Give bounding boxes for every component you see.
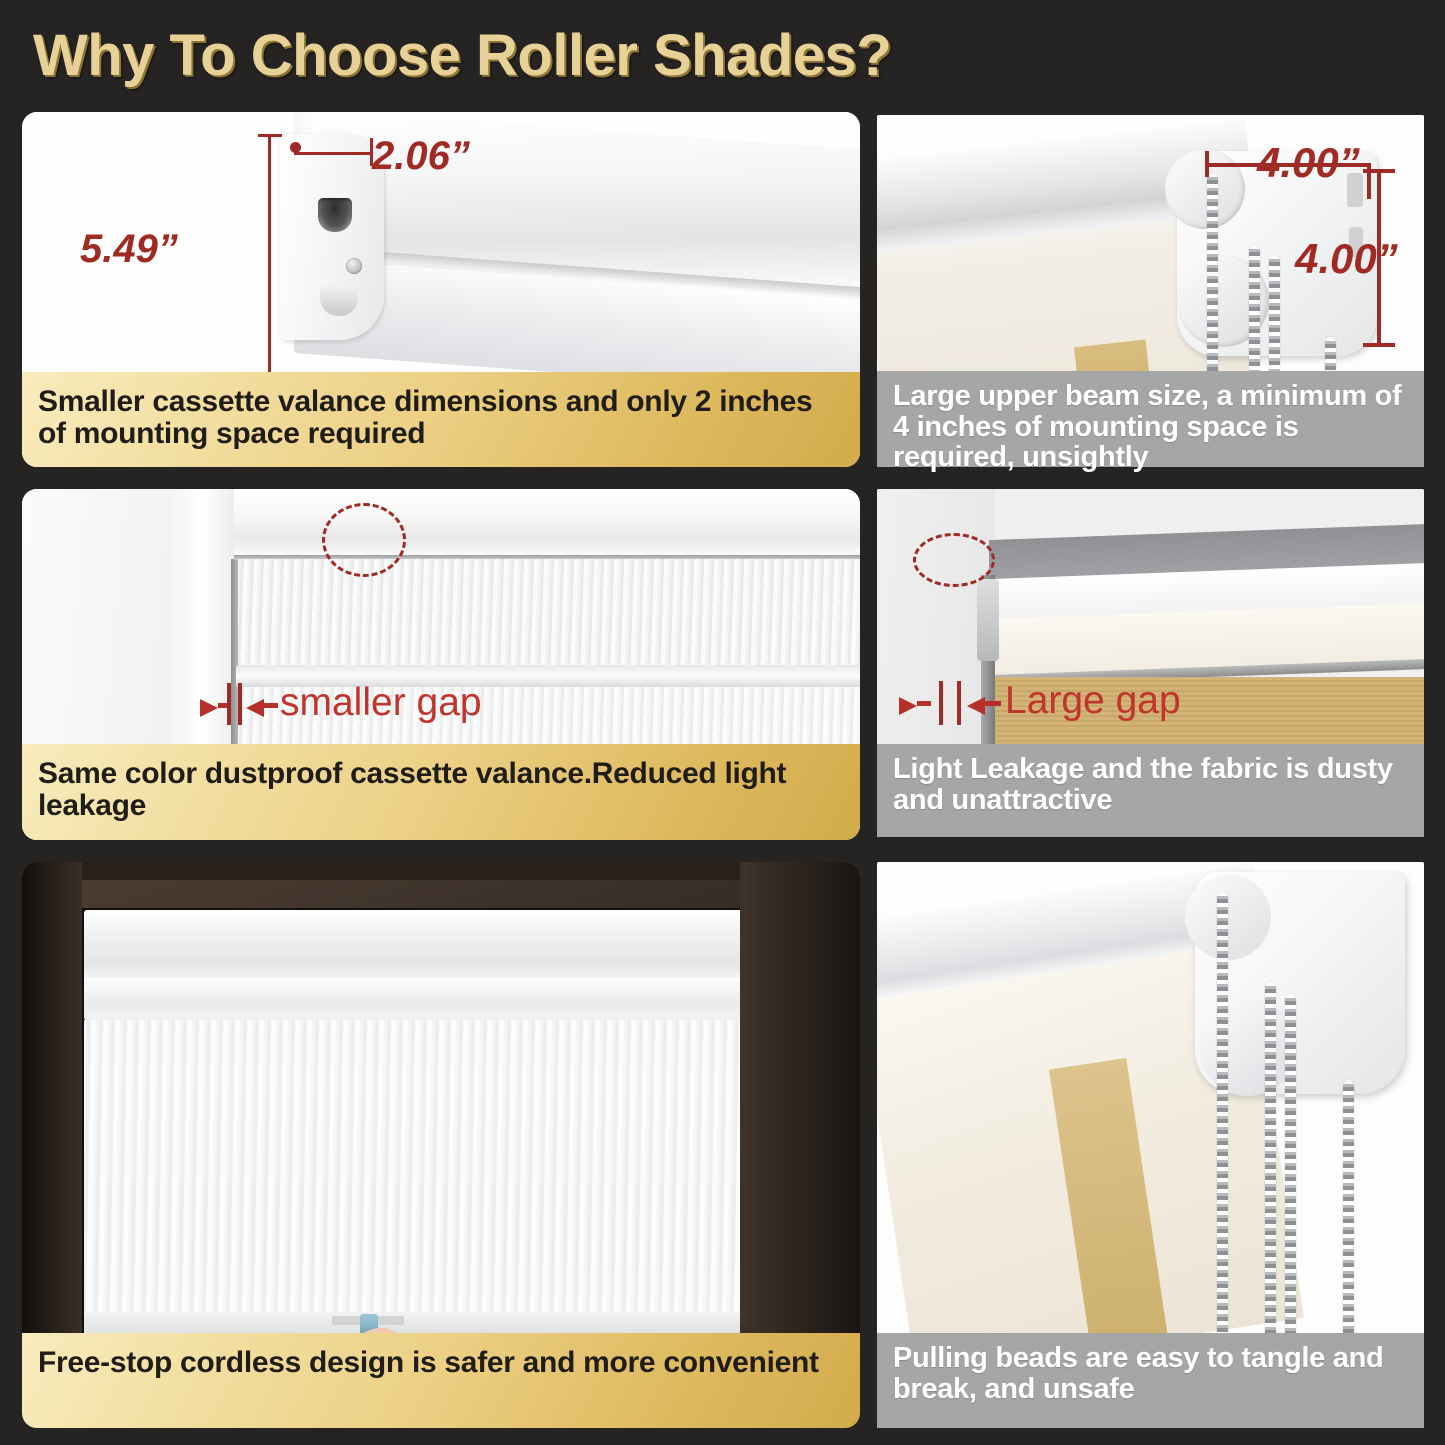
infographic-page: Why To Choose Roller Shades? 5.49” 2.06”… — [0, 0, 1445, 1445]
annotation-height-5-49: 5.49” — [80, 227, 178, 272]
caption-row3-left: Free-stop cordless design is safer and m… — [22, 1333, 860, 1428]
annotation-height-4-00: 4.00” — [1295, 235, 1398, 283]
annotation-smaller-gap: smaller gap — [280, 681, 482, 725]
valance-head-rail — [84, 910, 764, 982]
caption-row1-left: Smaller cassette valance dimensions and … — [22, 372, 860, 467]
page-title: Why To Choose Roller Shades? — [33, 20, 1033, 92]
annotation-width-4-00: 4.00” — [1257, 139, 1360, 187]
roller-shade-fabric — [84, 1020, 764, 1330]
bead-chain[interactable] — [1217, 892, 1228, 1382]
annotation-large-gap: Large gap — [1005, 679, 1181, 723]
bead-chain[interactable] — [1285, 994, 1296, 1382]
highlight-circle-icon — [322, 503, 406, 577]
annotation-width-2-06: 2.06” — [372, 134, 470, 179]
caption-row3-right: Pulling beads are easy to tangle and bre… — [877, 1333, 1424, 1428]
highlight-circle-icon — [913, 533, 995, 587]
bead-chain[interactable] — [1265, 982, 1276, 1382]
caption-row2-right: Light Leakage and the fabric is dusty an… — [877, 744, 1424, 837]
caption-row2-left: Same color dustproof cassette valance.Re… — [22, 744, 860, 840]
valance-slot — [318, 198, 352, 232]
caption-row1-right: Large upper beam size, a minimum of 4 in… — [877, 371, 1424, 467]
width-dim-line — [294, 152, 372, 155]
